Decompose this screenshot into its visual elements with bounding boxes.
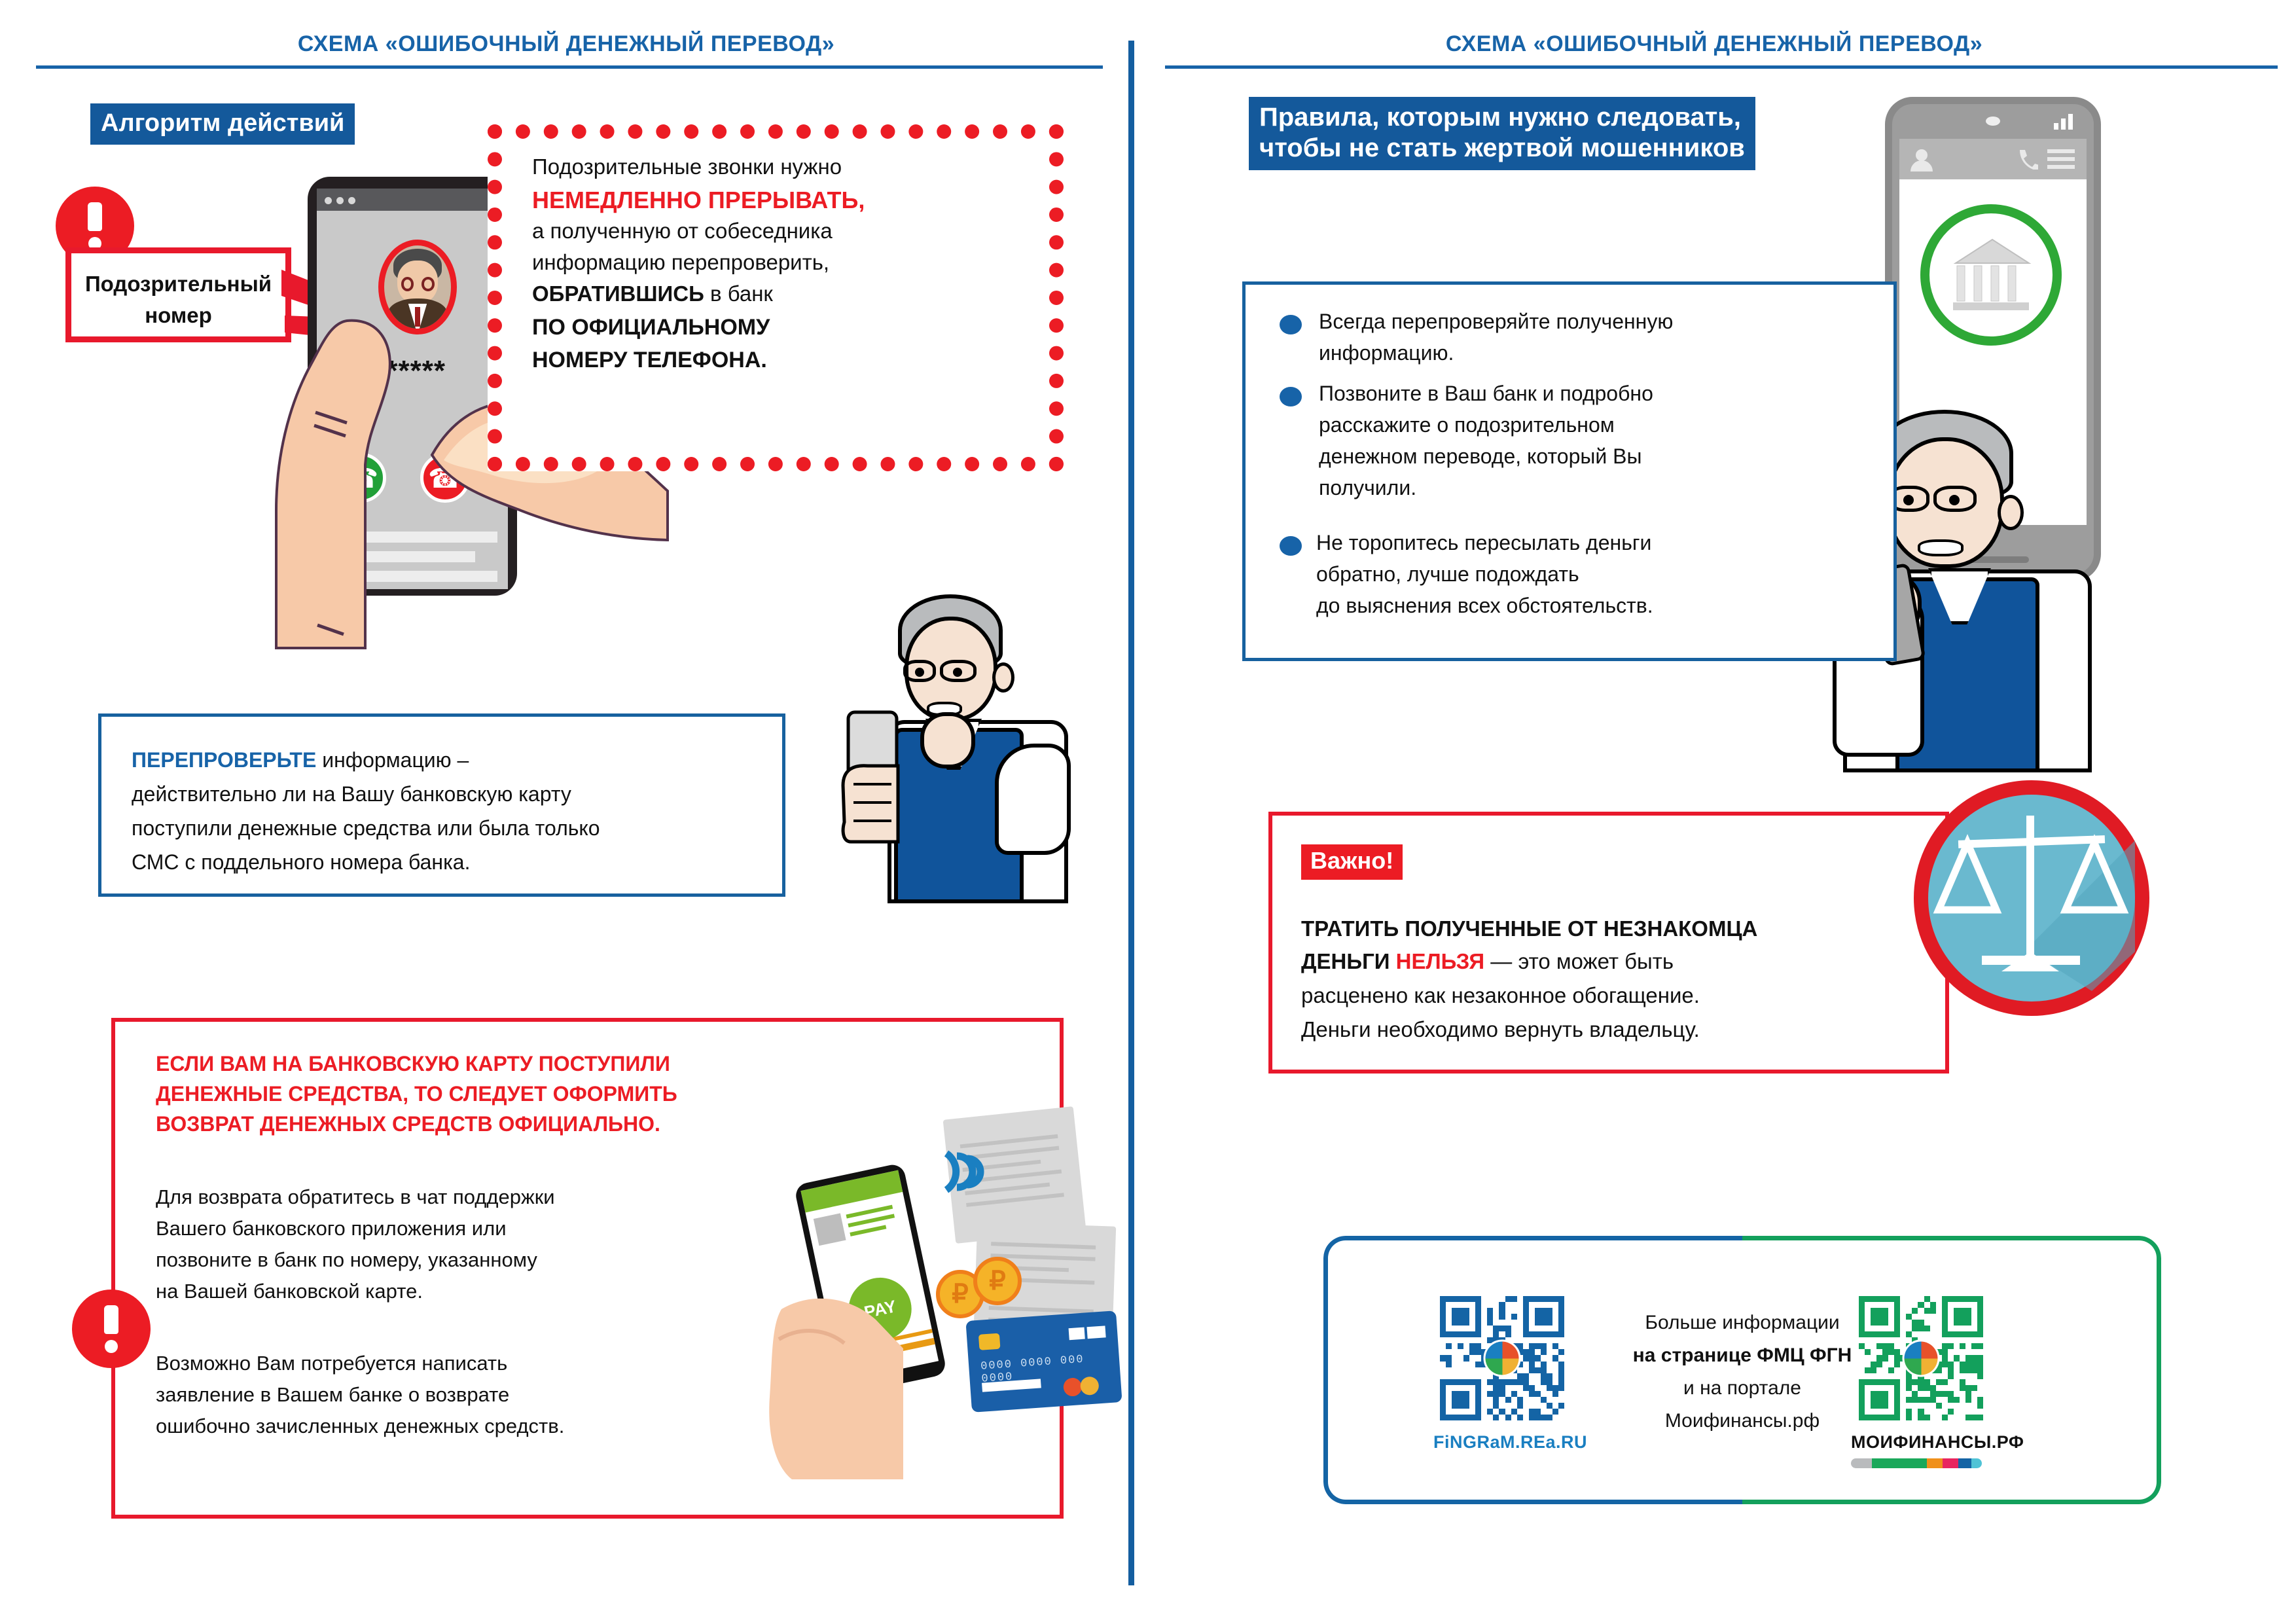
qr-caption-fingram: FiNGRaM.REa.RU xyxy=(1433,1432,1587,1453)
person-holding-smartphone xyxy=(838,707,916,857)
rules-title-line-2: чтобы не стать жертвой мошенников xyxy=(1259,133,1745,164)
footer-line-1: Больше информации xyxy=(1605,1309,1880,1337)
important-line-3: расценено как незаконное обогащение. xyxy=(1301,981,1700,1011)
recheck-info-box: ПЕРЕПРОВЕРЬТЕ информацию – действительно… xyxy=(98,713,785,897)
important-box: Важно! ТРАТИТЬ ПОЛУЧЕННЫЕ ОТ НЕЗНАКОМЦА … xyxy=(1268,812,1949,1074)
bank-card: 0000 0000 000 0000 xyxy=(965,1310,1122,1413)
refund-p2-line-2: заявление в Вашем банке о возврате xyxy=(156,1380,509,1409)
exclamation-icon-2 xyxy=(72,1290,151,1368)
refund-p2-line-1: Возможно Вам потребуется написать xyxy=(156,1349,507,1378)
advice-line-5-strong: ОБРАТИВШИСЬ xyxy=(532,281,704,306)
qr-code-moifinansy[interactable] xyxy=(1859,1296,1983,1420)
recheck-line-1: ПЕРЕПРОВЕРЬТЕ информацию – xyxy=(132,746,469,775)
brand-color-stripe xyxy=(1851,1458,1982,1468)
page-title-right: СХЕМА «ОШИБОЧНЫЙ ДЕНЕЖНЫЙ ПЕРЕВОД» xyxy=(1132,31,2296,57)
refund-p2-line-3: ошибочно зачисленных денежных средств. xyxy=(156,1412,564,1441)
advice-line-6: ПО ОФИЦИАЛЬНОМУ xyxy=(532,312,770,343)
rule-3-line-1: Не торопитесь пересылать деньги xyxy=(1316,528,1651,558)
qr-logo-moifinansy xyxy=(1903,1340,1940,1377)
footer-line-4: Моифинансы.рф xyxy=(1605,1407,1880,1435)
rule-2-line-1: Позвоните в Ваш банк и подробно xyxy=(1319,379,1653,408)
recheck-keyword: ПЕРЕПРОВЕРЬТЕ xyxy=(132,748,316,772)
contactless-wifi-icon xyxy=(937,1139,996,1198)
section-title-algorithm: Алгоритм действий xyxy=(90,103,355,145)
qr-caption-moifinansy: МОИФИНАНСЫ.РФ xyxy=(1851,1432,2024,1453)
footer-line-2: на странице ФМЦ ФГН xyxy=(1605,1342,1880,1370)
hand-holding-pay-phone xyxy=(753,1263,936,1525)
advice-line-5: ОБРАТИВШИСЬ в банк xyxy=(532,279,773,310)
section-title-rules: Правила, которым нужно следовать, чтобы … xyxy=(1249,97,1755,170)
rule-2-line-4: получили. xyxy=(1319,473,1416,503)
rules-box: Всегда перепроверяйте полученную информа… xyxy=(1242,281,1897,661)
important-line-2b: — это может быть xyxy=(1484,949,1674,973)
page-title-left: СХЕМА «ОШИБОЧНЫЙ ДЕНЕЖНЫЙ ПЕРЕВОД» xyxy=(0,31,1132,57)
account-avatar-icon xyxy=(1909,147,1935,171)
advice-line-4: информацию перепроверить, xyxy=(532,247,829,278)
advice-line-7: НОМЕРУ ТЕЛЕФОНА. xyxy=(532,344,767,376)
advice-line-1: Подозрительные звонки нужно xyxy=(532,152,842,183)
bank-building-icon xyxy=(1953,237,2032,314)
rule-1-line-2: информацию. xyxy=(1319,338,1454,368)
recheck-line-4: СМС с поддельного номера банка. xyxy=(132,848,470,877)
rule-2-line-3: денежном переводе, который Вы xyxy=(1319,442,1642,471)
qr-logo-fingram xyxy=(1484,1340,1521,1377)
important-keyword: НЕЛЬЗЯ xyxy=(1396,949,1484,973)
recheck-line-1-rest: информацию – xyxy=(316,748,469,772)
advice-line-5-rest: в банк xyxy=(704,281,773,306)
important-line-2: ДЕНЬГИ НЕЛЬЗЯ — это может быть xyxy=(1301,947,1674,977)
header-rule-left xyxy=(36,65,1103,69)
recheck-line-3: поступили денежные средства или была тол… xyxy=(132,814,600,843)
footer-info-box: FiNGRaM.REa.RU Больше информации на стра… xyxy=(1323,1236,2161,1504)
signal-bars-icon xyxy=(2054,111,2079,130)
rule-3-line-2: обратно, лучше подождать xyxy=(1316,560,1579,589)
refund-p1-line-4: на Вашей банковской карте. xyxy=(156,1277,423,1306)
bullet-1 xyxy=(1280,315,1302,334)
rule-1-line-1: Всегда перепроверяйте полученную xyxy=(1319,307,1673,336)
rule-2-line-2: расскажите о подозрительном xyxy=(1319,410,1615,440)
menu-icon[interactable] xyxy=(2047,149,2075,169)
advice-line-3: а полученную от собеседника xyxy=(532,216,833,247)
ruble-coin-2: ₽ xyxy=(973,1257,1022,1305)
bullet-2 xyxy=(1280,387,1302,406)
dotted-advice-box: Подозрительные звонки нужно НЕМЕДЛЕННО П… xyxy=(488,124,1064,471)
page-right: СХЕМА «ОШИБОЧНЫЙ ДЕНЕЖНЫЙ ПЕРЕВОД» Прави… xyxy=(1132,0,2296,1624)
footer-line-3: и на портале xyxy=(1605,1375,1880,1403)
refund-p1-line-2: Вашего банковского приложения или xyxy=(156,1214,507,1243)
refund-head-3: ВОЗВРАТ ДЕНЕЖНЫХ СРЕДСТВ ОФИЦИАЛЬНО. xyxy=(156,1110,660,1139)
refund-head-1: ЕСЛИ ВАМ НА БАНКОВСКУЮ КАРТУ ПОСТУПИЛИ xyxy=(156,1049,670,1079)
refund-head-2: ДЕНЕЖНЫЕ СРЕДСТВА, ТО СЛЕДУЕТ ОФОРМИТЬ xyxy=(156,1079,677,1109)
page-divider xyxy=(1128,41,1134,1585)
important-line-2a: ДЕНЬГИ xyxy=(1301,949,1396,973)
bullet-3 xyxy=(1280,536,1302,556)
rule-3-line-3: до выяснения всех обстоятельств. xyxy=(1316,591,1653,621)
advice-line-2: НЕМЕДЛЕННО ПРЕРЫВАТЬ, xyxy=(532,183,865,217)
qr-code-fingram[interactable] xyxy=(1440,1296,1564,1420)
refund-p1-line-1: Для возврата обратитесь в чат поддержки xyxy=(156,1183,555,1212)
important-line-4: Деньги необходимо вернуть владельцу. xyxy=(1301,1015,1700,1045)
important-line-1: ТРАТИТЬ ПОЛУЧЕННЫЕ ОТ НЕЗНАКОМЦА xyxy=(1301,914,1757,945)
refund-p1-line-3: позвоните в банк по номеру, указанному xyxy=(156,1246,537,1274)
rules-title-line-1: Правила, которым нужно следовать, xyxy=(1259,102,1745,133)
header-rule-right xyxy=(1165,65,2278,69)
important-tag: Важно! xyxy=(1301,844,1403,880)
recheck-line-2: действительно ли на Вашу банковскую карт… xyxy=(132,780,571,809)
justice-scales-emblem xyxy=(1914,780,2149,1016)
phone-call-icon xyxy=(2016,147,2038,170)
page-left: СХЕМА «ОШИБОЧНЫЙ ДЕНЕЖНЫЙ ПЕРЕВОД» Алгор… xyxy=(0,0,1132,1624)
